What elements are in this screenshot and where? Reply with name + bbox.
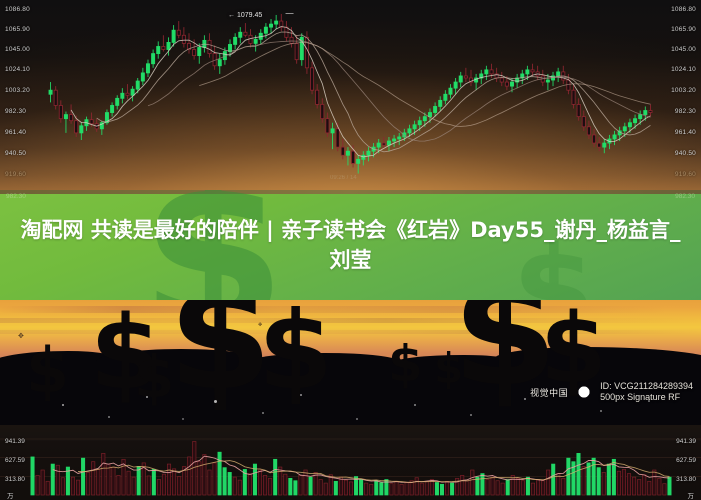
dollar-sign-silhouette: $ xyxy=(26,346,69,397)
sparkle xyxy=(108,416,110,418)
sparkle xyxy=(146,396,148,398)
volume-axis-unit-left: 万 xyxy=(7,490,14,500)
sparkle xyxy=(470,414,472,416)
volume-axis-label-left-2: 313.80 xyxy=(5,476,25,483)
x-axis-note: 09:26 / 14 xyxy=(330,175,357,181)
screenshot-root: 1086.80 1065.90 1045.00 1024.10 1003.20 … xyxy=(0,0,701,500)
sparkle xyxy=(414,404,416,406)
volume-axis-label-right-0: 941.39 xyxy=(676,438,696,445)
volume-plot[interactable] xyxy=(0,425,701,500)
candlestick-plot[interactable] xyxy=(0,0,701,190)
sparkle xyxy=(62,404,64,406)
sparkle xyxy=(600,410,602,412)
sparkle xyxy=(524,398,526,400)
banner-title: 淘配网 共读是最好的陪伴 | 亲子读书会《红岩》Day55_谢丹_杨益言_刘莹 xyxy=(0,190,701,300)
price-annotation-value: 1079.45 xyxy=(237,12,262,19)
volume-panel[interactable]: 941.39 627.59 313.80 万 941.39 627.59 313… xyxy=(0,425,701,500)
arrow-left-icon: ← xyxy=(228,12,235,19)
vcg-logo-icon xyxy=(573,381,595,403)
dollar-sign-silhouette: $ xyxy=(258,308,333,397)
sparkle xyxy=(214,400,217,403)
volume-axis-label-right-1: 627.59 xyxy=(676,457,696,464)
volume-axis-unit-right: 万 xyxy=(688,490,695,500)
sparkle xyxy=(356,418,358,420)
sparkle xyxy=(300,394,302,396)
volume-axis-label-left-0: 941.39 xyxy=(5,438,25,445)
dollar-sign-silhouette: $ xyxy=(388,344,423,385)
price-annotation: ←1079.45 xyxy=(228,12,262,19)
watermark-id: ID: VCG211284289394 xyxy=(600,381,693,392)
volume-axis-label-right-2: 313.80 xyxy=(676,476,696,483)
dollar-sign-silhouette: $ xyxy=(540,310,607,389)
candlestick-panel[interactable]: 1086.80 1065.90 1045.00 1024.10 1003.20 … xyxy=(0,0,701,190)
sparkle xyxy=(182,418,184,420)
sunset-dollar-photo: ✥ ✥ $ $ $ $ $ $ $ $ $ 视觉中国 xyxy=(0,300,701,425)
bird-icon: ✥ xyxy=(18,332,24,340)
watermark-license: 500px Signature RF xyxy=(600,392,693,403)
watermark-brand: 视觉中国 xyxy=(530,386,568,399)
sparkle xyxy=(262,412,264,414)
volume-axis-label-left-1: 627.59 xyxy=(5,457,25,464)
dollar-sign-silhouette: $ xyxy=(168,300,272,399)
watermark: 视觉中国 ID: VCG211284289394 500px Signature… xyxy=(530,381,693,403)
title-banner: $ $ 982.30 982.30 淘配网 共读是最好的陪伴 | 亲子读书会《红… xyxy=(0,190,701,300)
